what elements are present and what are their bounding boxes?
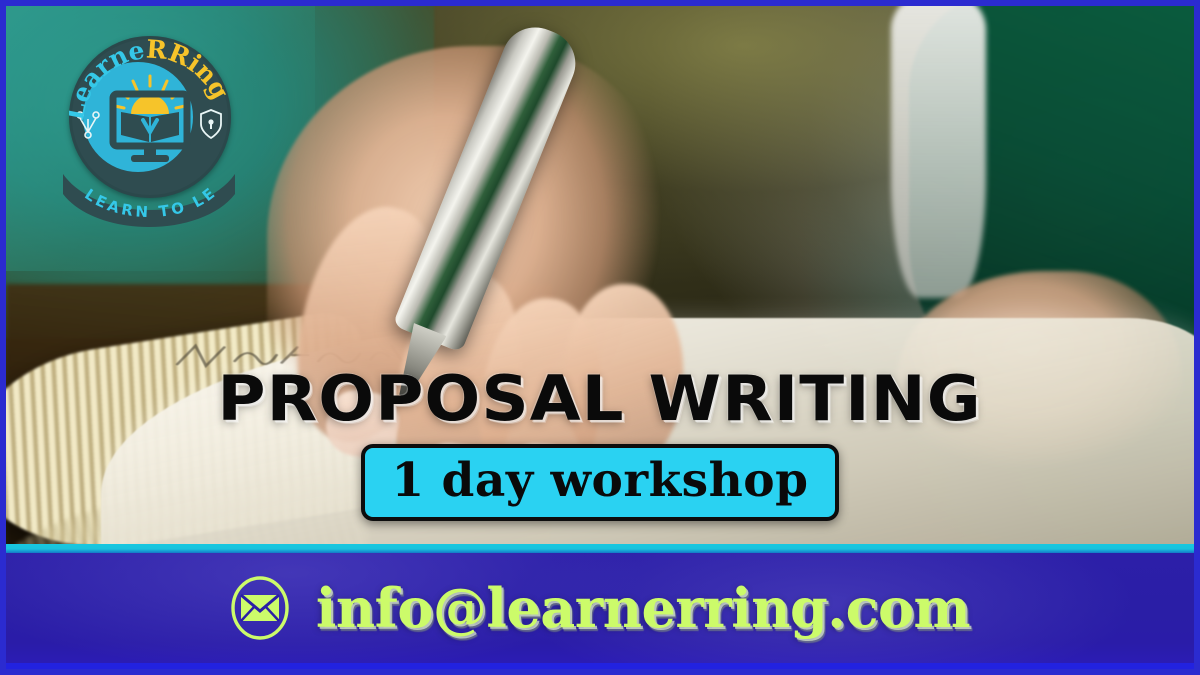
brand-part-1: Learne [69, 36, 147, 123]
envelope-icon[interactable] [230, 575, 290, 641]
bottom-blue-rule [6, 663, 1194, 669]
contact-bar[interactable]: info@learnerring.com [6, 553, 1194, 663]
svg-text:LearneRRing: LearneRRing [69, 36, 231, 123]
logo-badge[interactable]: LearneRRing LEARN TO LEAD [57, 36, 241, 258]
subtitle-badge: 1 day workshop [361, 444, 838, 521]
contact-email[interactable]: info@learnerring.com [316, 581, 970, 635]
cyan-divider-rule [6, 544, 1194, 553]
page-title: PROPOSAL WRITING [218, 368, 982, 430]
white-sleeve [891, 6, 986, 298]
headline-block: PROPOSAL WRITING 1 day workshop [0, 368, 1200, 521]
promo-banner: LearneRRing LEARN TO LEAD PROPOSAL WRITI… [0, 0, 1200, 675]
logo-tagline-ribbon: LEARN TO LEAD [57, 164, 241, 238]
subtitle-wrap: 1 day workshop [0, 444, 1200, 521]
